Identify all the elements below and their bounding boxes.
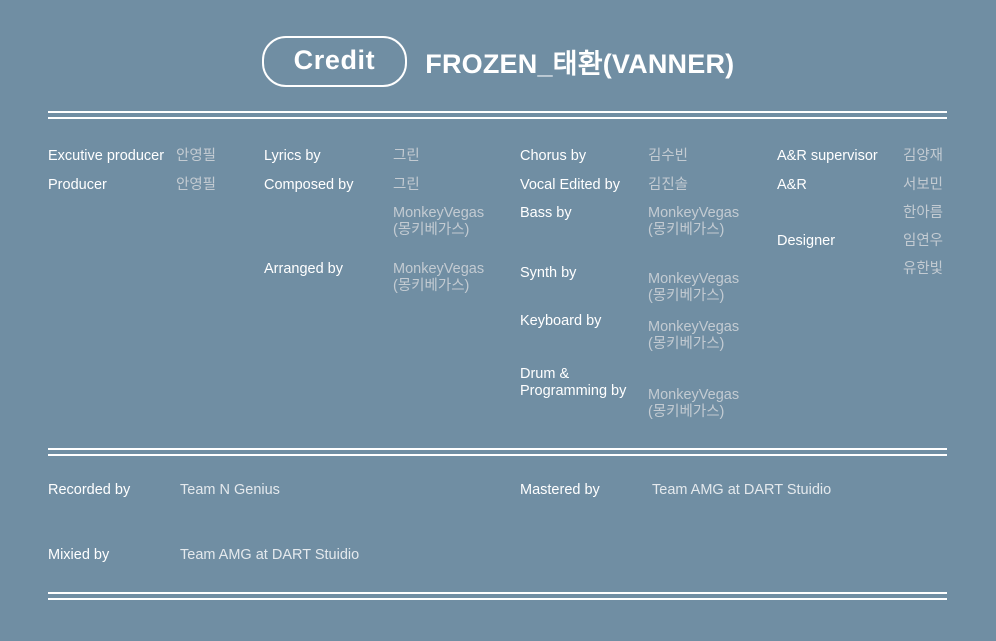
mastered-by-value: Team AMG at DART Stuidio bbox=[652, 482, 831, 499]
credit-value: MonkeyVegas (몽키베가스) bbox=[648, 319, 739, 353]
credit-value: 서보민 bbox=[903, 177, 943, 194]
credit-value: 안영필 bbox=[176, 177, 216, 194]
divider-middle bbox=[48, 448, 947, 456]
credit-value: 임연우 bbox=[903, 233, 943, 250]
mixied-by-label: Mixied by bbox=[48, 547, 109, 564]
credit-label: Synth by bbox=[520, 265, 576, 282]
credit-badge: Credit bbox=[262, 36, 408, 87]
credit-label: Bass by bbox=[520, 205, 572, 222]
credit-value: 김진솔 bbox=[648, 177, 688, 194]
credit-label: Composed by bbox=[264, 177, 353, 194]
recorded-by-label: Recorded by bbox=[48, 482, 130, 499]
page-title: FROZEN_태환(VANNER) bbox=[425, 42, 734, 81]
credit-value: MonkeyVegas (몽키베가스) bbox=[648, 205, 739, 239]
credit-value: 안영필 bbox=[176, 148, 216, 165]
credit-value: MonkeyVegas (몽키베가스) bbox=[393, 261, 484, 295]
credits-grid: Excutive producer안영필Producer안영필 Lyrics b… bbox=[0, 140, 996, 440]
credit-value: MonkeyVegas (몽키베가스) bbox=[393, 205, 484, 239]
credit-label: Keyboard by bbox=[520, 313, 601, 330]
credit-value: 한아름 bbox=[903, 205, 943, 222]
credit-value: 김수빈 bbox=[648, 148, 688, 165]
page-header: Credit FROZEN_태환(VANNER) bbox=[0, 36, 996, 87]
credit-label: Drum & Programming by bbox=[520, 366, 626, 400]
credit-label: Chorus by bbox=[520, 148, 586, 165]
divider-bottom bbox=[48, 592, 947, 600]
recorded-by-value: Team N Genius bbox=[180, 482, 280, 499]
mastered-by-label: Mastered by bbox=[520, 482, 600, 499]
credit-label: Lyrics by bbox=[264, 148, 321, 165]
credit-value: 김양재 bbox=[903, 148, 943, 165]
credit-label: Excutive producer bbox=[48, 148, 164, 165]
credit-label: Arranged by bbox=[264, 261, 343, 278]
credit-label: Vocal Edited by bbox=[520, 177, 620, 194]
credit-value: 그린 bbox=[393, 148, 420, 165]
mixied-by-value: Team AMG at DART Stuidio bbox=[180, 547, 359, 564]
divider-top bbox=[48, 111, 947, 119]
credit-value: 그린 bbox=[393, 177, 420, 194]
credit-label: Designer bbox=[777, 233, 835, 250]
credit-value: MonkeyVegas (몽키베가스) bbox=[648, 387, 739, 421]
credit-label: A&R supervisor bbox=[777, 148, 878, 165]
credit-value: MonkeyVegas (몽키베가스) bbox=[648, 271, 739, 305]
credit-label: A&R bbox=[777, 177, 807, 194]
credit-label: Producer bbox=[48, 177, 107, 194]
credit-value: 유한빛 bbox=[903, 261, 943, 278]
production-credits: Recorded by Team N Genius Mastered by Te… bbox=[0, 482, 996, 582]
